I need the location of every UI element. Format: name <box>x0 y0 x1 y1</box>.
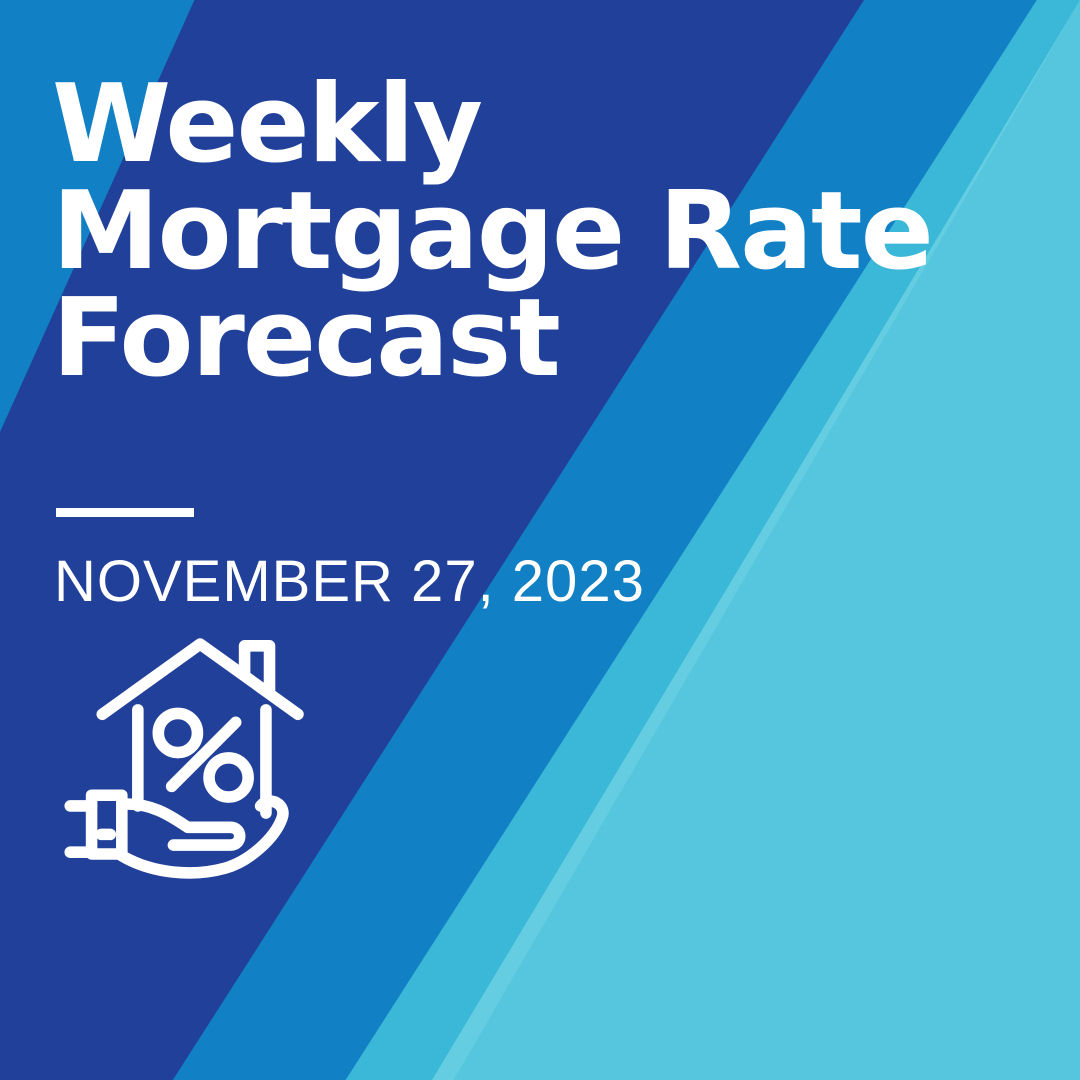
divider-rule <box>56 508 194 517</box>
headline-line-3: Forecast <box>52 286 1032 393</box>
poster-canvas: INTEREST RATES 2016201520142013201220112… <box>0 0 1080 1080</box>
headline-line-2: Mortgage Rate <box>52 179 1032 286</box>
headline-line-1: Weekly <box>52 72 1032 179</box>
page-title: Weekly Mortgage Rate Forecast <box>52 72 1032 393</box>
poster-content: Weekly Mortgage Rate Forecast NOVEMBER 2… <box>0 0 1080 1080</box>
house-percent-in-hand-icon <box>52 628 334 886</box>
date-label: NOVEMBER 27, 2023 <box>54 548 645 615</box>
